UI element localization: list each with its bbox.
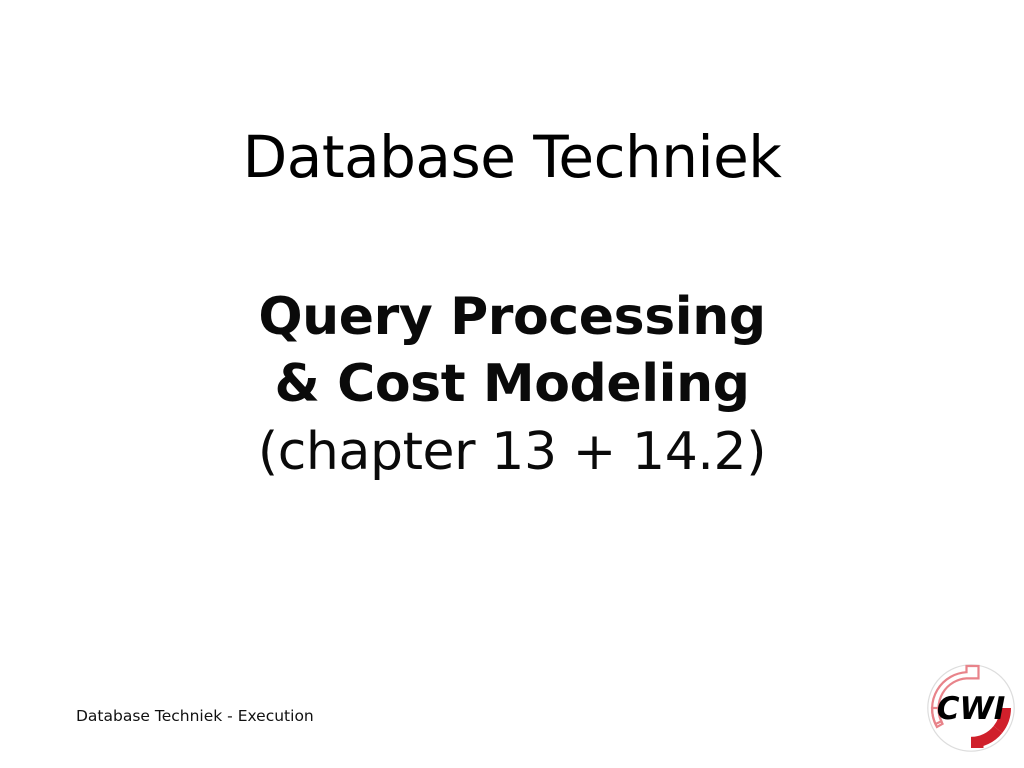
chapter-reference: (chapter 13 + 14.2) bbox=[0, 419, 1024, 486]
title-block: Database Techniek bbox=[0, 126, 1024, 189]
footer-label: Database Techniek - Execution bbox=[76, 707, 314, 725]
subtitle-block: Query Processing & Cost Modeling (chapte… bbox=[0, 284, 1024, 486]
slide-canvas: Database Techniek Query Processing & Cos… bbox=[0, 0, 1024, 768]
subtitle-line-1: Query Processing bbox=[0, 284, 1024, 351]
page-title: Database Techniek bbox=[0, 126, 1024, 189]
cwi-logo: CWI bbox=[926, 662, 1016, 754]
subtitle-line-2: & Cost Modeling bbox=[0, 351, 1024, 418]
cwi-wordmark: CWI bbox=[937, 691, 1005, 727]
